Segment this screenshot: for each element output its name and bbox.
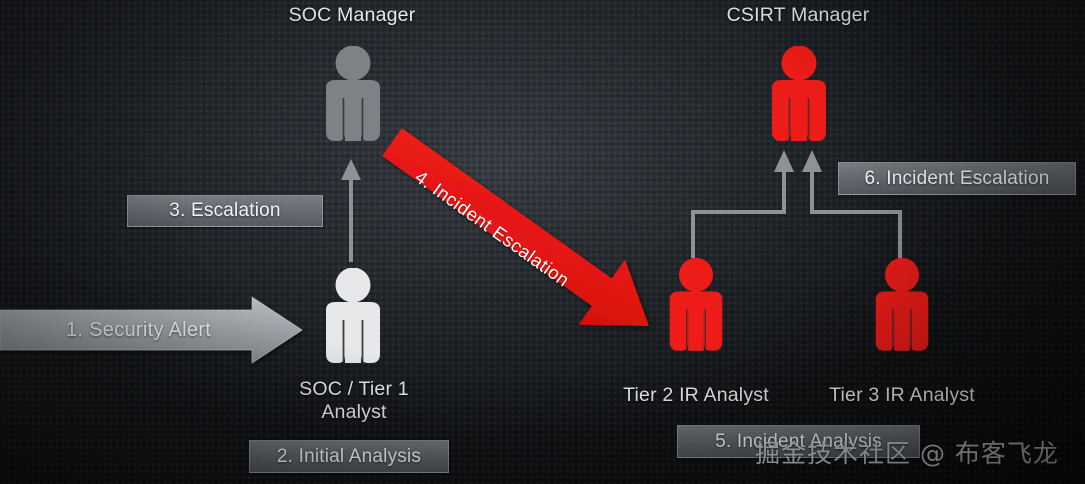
tier2-to-csirt-elbow-arrow [693,150,794,258]
diagram-canvas: SOC Manager CSIRT Manager SOC / Tie [0,0,1085,484]
node-label-csirt-manager: CSIRT Manager [700,4,896,27]
node-label-tier3-ir-analyst: Tier 3 IR Analyst [802,384,1002,407]
flow-label-security-alert: 1. Security Alert [66,319,211,342]
escalation-line-arrow [341,159,361,262]
flow-label-escalation: 3. Escalation [127,195,323,227]
flow-label-incident-escalation: 6. Incident Escalation [838,162,1076,195]
incident-escalation-block-arrow [369,109,673,358]
connector-layer [0,0,1085,484]
node-label-tier2-ir-analyst: Tier 2 IR Analyst [596,384,796,407]
flow-label-incident-escalation-diagonal: 4. Incident Escalation [411,166,574,291]
person-icon-csirt-manager [762,46,836,148]
watermark: 掘金技术社区 @ 布客飞龙 [755,434,1059,470]
background-texture [0,0,1085,484]
person-icon-soc-manager [316,46,390,148]
person-icon-tier2-ir-analyst [660,258,732,358]
vignette-overlay [0,0,1085,484]
node-label-soc-manager: SOC Manager [254,4,450,27]
flow-label-initial-analysis: 2. Initial Analysis [249,440,449,473]
person-icon-tier3-ir-analyst [866,258,938,358]
person-icon-soc-tier1-analyst [316,268,390,370]
node-label-soc-tier1-analyst: SOC / Tier 1 Analyst [256,378,452,424]
